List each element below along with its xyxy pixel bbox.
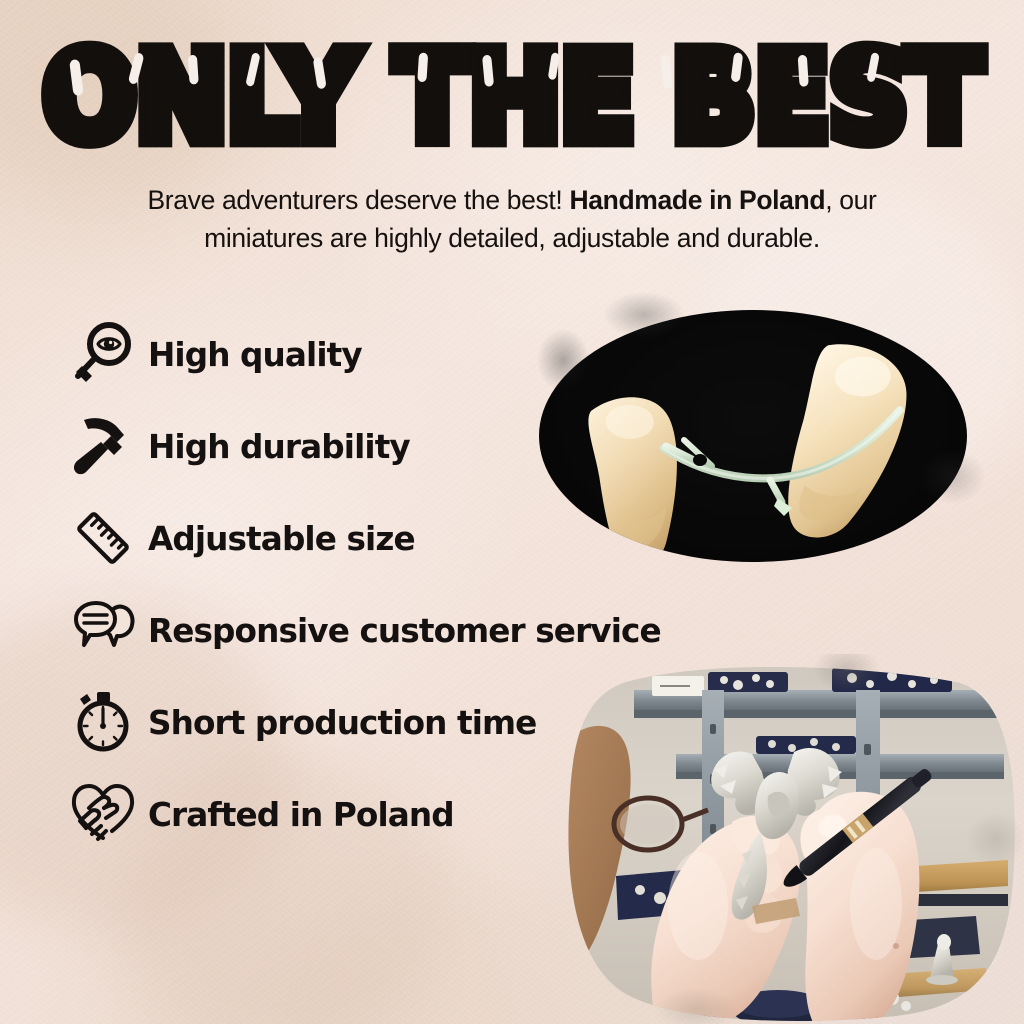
- subtitle-bold-handmade: Handmade in Poland: [569, 185, 825, 215]
- feature-label: Adjustable size: [142, 519, 415, 558]
- headline-container: ONLY THE BEST: [0, 38, 1024, 146]
- feature-label: Crafted in Poland: [142, 795, 454, 834]
- feature-label: Short production time: [142, 703, 536, 742]
- feature-label: Responsive customer service: [142, 611, 661, 650]
- magnifier-eye-icon: [64, 316, 142, 392]
- durability-bend-photo: [516, 276, 990, 600]
- feature-label: High durability: [142, 427, 410, 466]
- stopwatch-icon: [64, 684, 142, 760]
- poster-canvas: ONLY THE BEST Brave adventurers deserve …: [0, 0, 1024, 1024]
- feature-label: High quality: [142, 335, 362, 374]
- ruler-icon: [64, 500, 142, 576]
- subtitle: Brave adventurers deserve the best! Hand…: [92, 182, 932, 257]
- handshake-heart-icon: [64, 776, 142, 852]
- workshop-painting-photo: [556, 654, 1024, 1024]
- page-title: ONLY THE BEST: [43, 38, 981, 160]
- workshop-photo-art: [556, 654, 1024, 1024]
- bend-photo-art: [516, 276, 990, 600]
- headline-gloss-highlights: [43, 38, 981, 160]
- subtitle-lead: Brave adventurers deserve the best!: [147, 185, 569, 215]
- speech-bubbles-icon: [64, 592, 142, 668]
- hammer-icon: [64, 408, 142, 484]
